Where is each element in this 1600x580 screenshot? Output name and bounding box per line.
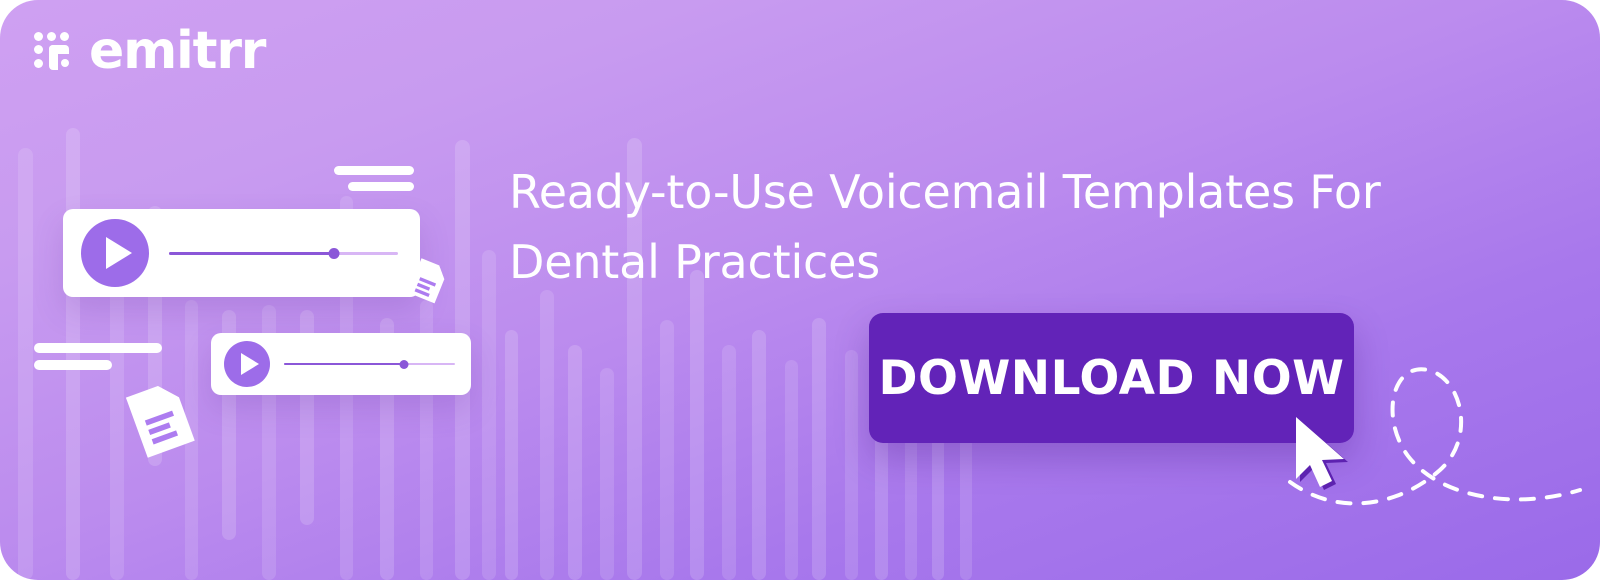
decor-bar-top-long [334,166,414,175]
progress-track[interactable] [284,358,455,370]
voicemail-player-primary[interactable] [63,209,420,297]
progress-track[interactable] [169,246,398,260]
play-icon[interactable] [81,219,149,287]
page-title: Ready-to-Use Voicemail Templates For Den… [509,157,1509,297]
voicemail-player-secondary[interactable] [211,333,471,395]
cursor-arrow-icon [1288,415,1352,498]
progress-track-fill [169,252,334,255]
decor-bar-top-short [348,182,414,191]
brand-logo[interactable]: emitrr [34,25,265,77]
progress-track-fill [284,363,404,365]
brand-name: emitrr [89,25,265,77]
document-icon [406,258,448,311]
progress-thumb[interactable] [399,360,408,369]
document-icon [126,381,196,466]
promo-banner: emitrr [0,0,1600,580]
progress-thumb[interactable] [328,248,339,259]
play-icon[interactable] [224,341,270,387]
decor-bar-left-long [34,343,162,353]
emitrr-dot-grid-logo-icon [34,32,72,70]
decor-bar-left-short [34,360,112,370]
